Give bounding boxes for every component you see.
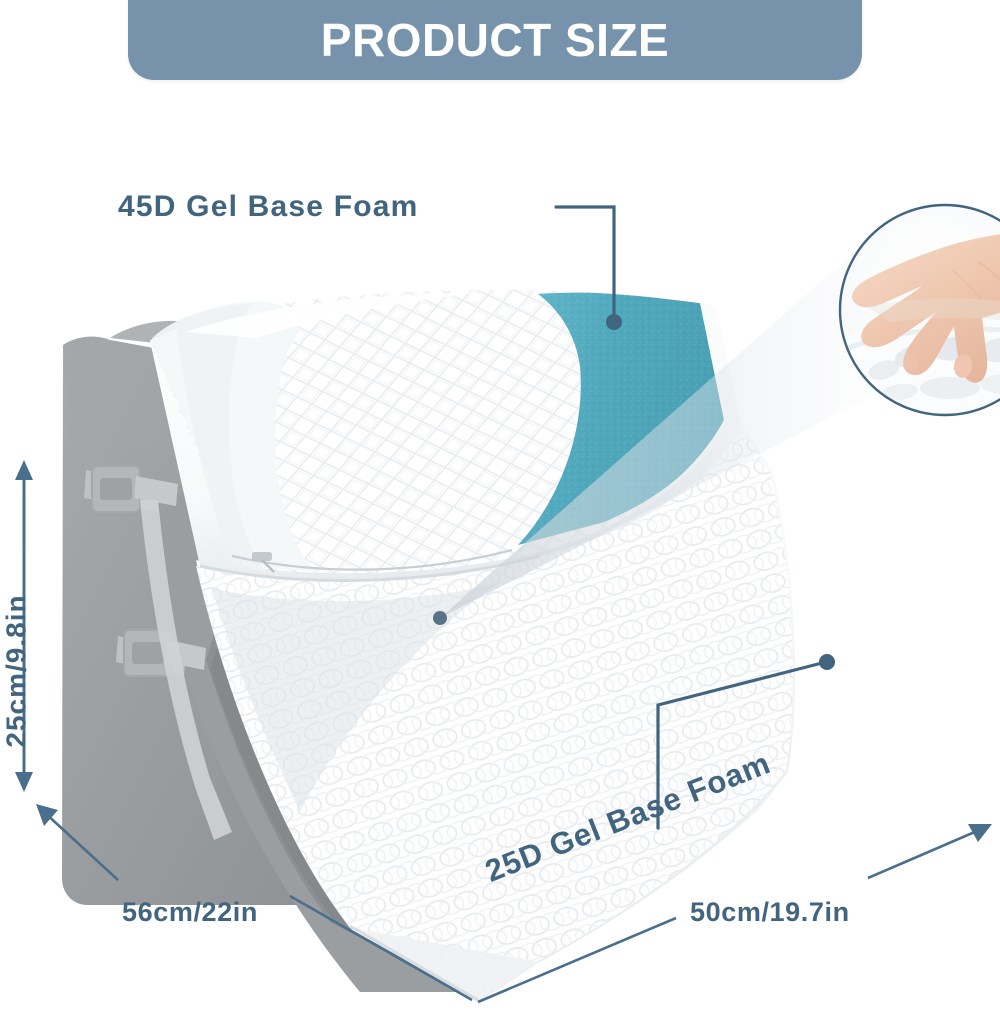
dimension-label-depth: 56cm/22in (122, 897, 258, 928)
zoom-origin-dot (433, 611, 447, 625)
leader-dot-25d (819, 654, 835, 670)
dimension-label-width: 50cm/19.7in (690, 897, 850, 928)
callout-label-45d-gel-base-foam: 45D Gel Base Foam (118, 190, 419, 224)
header-banner: PRODUCT SIZE (128, 0, 862, 80)
dimension-label-height: 25cm/9.8in (1, 594, 33, 747)
page-title: PRODUCT SIZE (128, 0, 862, 80)
leader-dot-45d (606, 314, 622, 330)
product-size-infographic: PRODUCT SIZE 45D Gel Base Foam 25D Gel B… (0, 0, 1000, 1027)
